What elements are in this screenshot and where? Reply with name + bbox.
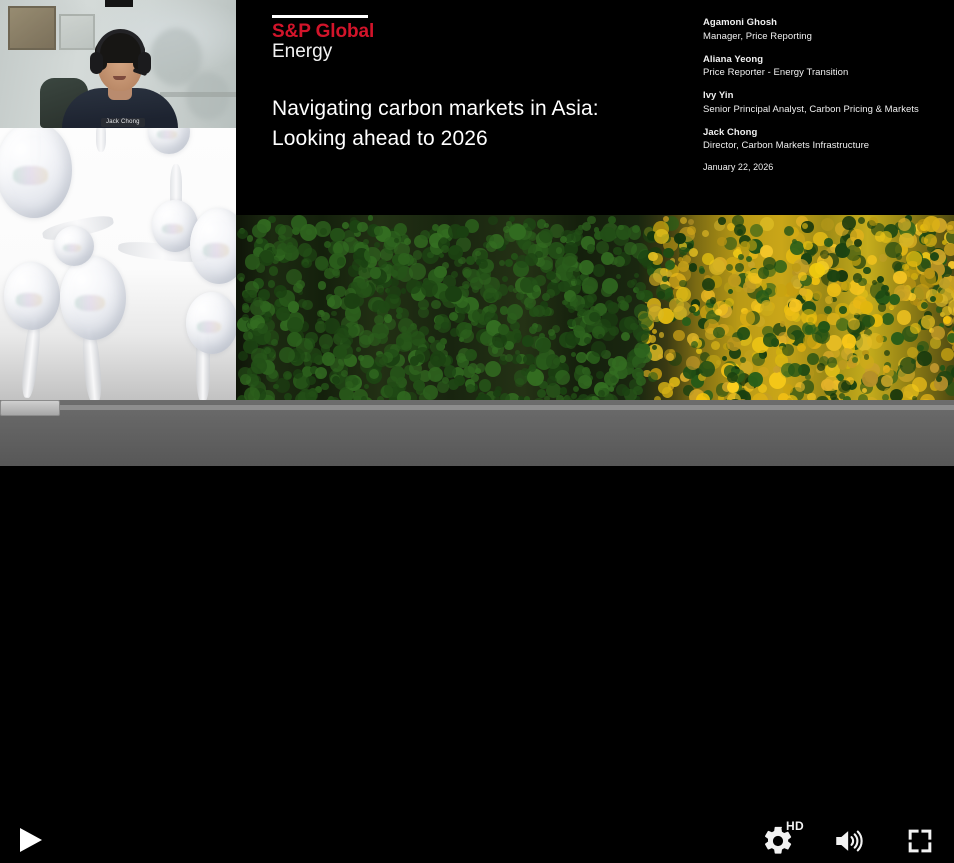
tree-canopy-dot <box>799 288 807 296</box>
tree-canopy-dot <box>536 338 551 353</box>
tree-canopy-dot <box>268 369 278 379</box>
tree-canopy-dot <box>947 333 954 343</box>
background-picture-frame-2 <box>59 14 95 50</box>
forest-canopy <box>236 215 954 400</box>
tree-canopy-dot <box>862 371 878 387</box>
tree-canopy-dot <box>608 216 616 224</box>
tree-canopy-dot <box>682 317 691 326</box>
headphone-earcup-left <box>90 52 103 74</box>
tree-canopy-dot <box>897 310 912 325</box>
tree-canopy-dot <box>368 215 373 220</box>
tree-canopy-dot <box>827 357 837 367</box>
tree-canopy-dot <box>516 292 524 300</box>
tree-canopy-dot <box>713 327 725 339</box>
tree-canopy-dot <box>587 293 597 303</box>
tree-canopy-dot <box>533 285 541 293</box>
tree-canopy-dot <box>596 371 604 379</box>
tree-canopy-dot <box>727 337 741 351</box>
tree-canopy-dot <box>252 224 266 238</box>
tree-canopy-dot <box>341 370 348 377</box>
tree-canopy-dot <box>930 363 940 373</box>
tree-canopy-dot <box>943 316 951 324</box>
tree-canopy-dot <box>740 357 746 363</box>
background-picture-frame <box>8 6 56 50</box>
tree-canopy-dot <box>699 361 715 377</box>
tree-canopy-dot <box>284 393 293 401</box>
tree-canopy-dot <box>715 309 722 316</box>
tree-canopy-dot <box>663 248 674 259</box>
tree-canopy-dot <box>625 295 633 303</box>
glass-sphere <box>60 256 126 340</box>
tree-canopy-dot <box>269 266 279 276</box>
tree-canopy-dot <box>711 341 720 350</box>
tree-canopy-dot <box>505 259 514 268</box>
tree-canopy-dot <box>802 223 808 229</box>
tree-canopy-dot <box>500 393 510 400</box>
tree-canopy-dot <box>898 218 911 231</box>
webcam-feed[interactable]: Jack Chong <box>0 0 236 128</box>
speaker-entry: Ivy YinSenior Principal Analyst, Carbon … <box>703 89 943 117</box>
tree-canopy-dot <box>344 293 360 309</box>
tree-canopy-dot <box>809 263 824 278</box>
tree-canopy-dot <box>621 332 630 341</box>
headphones-band-icon <box>96 29 145 55</box>
tree-canopy-dot <box>852 357 858 363</box>
tree-canopy-dot <box>659 332 664 337</box>
tree-canopy-dot <box>444 365 457 378</box>
tree-canopy-dot <box>702 278 715 291</box>
tree-canopy-dot <box>398 253 410 265</box>
left-column: Jack Chong <box>0 0 236 400</box>
video-player[interactable]: Jack Chong S&P Global Energy Naviga <box>0 0 954 466</box>
tree-canopy-dot <box>575 228 583 236</box>
tree-canopy-dot <box>328 295 342 309</box>
tree-canopy-dot <box>454 375 465 386</box>
tree-canopy-dot <box>419 392 431 400</box>
tree-canopy-dot <box>591 341 606 356</box>
tree-canopy-dot <box>411 331 425 345</box>
tree-canopy-dot <box>378 288 385 295</box>
tree-canopy-dot <box>413 250 422 259</box>
tree-canopy-dot <box>605 377 613 385</box>
tree-canopy-dot <box>357 222 368 233</box>
speaker-name: Jack Chong <box>703 126 943 140</box>
tree-canopy-dot <box>673 330 685 342</box>
tree-canopy-dot <box>292 227 301 236</box>
progress-bar[interactable] <box>0 405 954 410</box>
glass-sphere <box>54 226 94 266</box>
tree-canopy-dot <box>613 247 622 256</box>
tree-canopy-dot <box>734 224 747 237</box>
tree-canopy-dot <box>359 330 374 345</box>
progress-bar-handle[interactable] <box>0 400 60 416</box>
speaker-role: Senior Principal Analyst, Carbon Pricing… <box>703 103 943 117</box>
tree-canopy-dot <box>488 216 497 225</box>
tree-canopy-dot <box>370 267 382 279</box>
tree-canopy-dot <box>825 296 833 304</box>
tree-canopy-dot <box>401 288 407 294</box>
tree-canopy-dot <box>237 229 248 240</box>
glass-sphere <box>190 208 236 284</box>
tree-canopy-dot <box>827 270 840 283</box>
tree-canopy-dot <box>476 363 486 373</box>
tree-canopy-dot <box>885 242 902 259</box>
tree-canopy-dot <box>432 224 439 231</box>
tree-canopy-dot <box>546 289 555 298</box>
tree-canopy-dot <box>775 284 788 297</box>
tree-canopy-dot <box>434 266 447 279</box>
tree-canopy-dot <box>748 372 763 387</box>
tree-canopy-dot <box>317 310 324 317</box>
tree-canopy-dot <box>479 379 491 391</box>
person-mouth <box>113 76 126 80</box>
forest-aerial-photo <box>236 215 954 400</box>
tree-canopy-dot <box>332 376 340 384</box>
tree-canopy-dot <box>806 314 817 325</box>
tree-canopy-dot <box>271 339 278 346</box>
sp-global-division-text: Energy <box>272 41 332 63</box>
tree-canopy-dot <box>616 274 621 279</box>
tree-canopy-dot <box>529 326 537 334</box>
tree-canopy-dot <box>782 344 795 357</box>
tree-canopy-dot <box>486 241 497 252</box>
tree-canopy-dot <box>930 252 939 261</box>
tree-canopy-dot <box>247 235 254 242</box>
tree-canopy-dot <box>931 326 945 340</box>
speaker-name: Ivy Yin <box>703 89 943 103</box>
tree-canopy-dot <box>544 223 549 228</box>
tree-canopy-dot <box>699 268 705 274</box>
tree-canopy-dot <box>821 218 834 231</box>
tree-canopy-dot <box>459 337 464 342</box>
tree-canopy-dot <box>689 306 696 313</box>
gear-icon <box>761 824 795 858</box>
tree-canopy-dot <box>445 286 461 302</box>
tree-canopy-dot <box>296 280 306 290</box>
tree-canopy-dot <box>878 303 886 311</box>
tree-canopy-dot <box>251 375 261 385</box>
tree-canopy-dot <box>737 327 750 340</box>
tree-canopy-dot <box>364 384 369 389</box>
volume-icon <box>832 824 866 858</box>
slide-title-line-1: Navigating carbon markets in Asia: <box>272 94 672 124</box>
tree-canopy-dot <box>687 226 696 235</box>
tree-canopy-dot <box>790 241 804 255</box>
tree-canopy-dot <box>910 323 921 334</box>
tree-canopy-dot <box>582 279 597 294</box>
tree-canopy-dot <box>546 271 556 281</box>
tree-canopy-dot <box>352 378 359 385</box>
top-notch <box>105 0 133 7</box>
tree-canopy-dot <box>374 226 384 236</box>
tree-canopy-dot <box>618 225 623 230</box>
tree-canopy-dot <box>320 228 327 235</box>
tree-canopy-dot <box>303 262 308 267</box>
tree-canopy-dot <box>442 377 449 384</box>
settings-button[interactable] <box>761 824 795 858</box>
tree-canopy-dot <box>480 284 495 299</box>
tree-canopy-dot <box>689 248 698 257</box>
tree-canopy-dot <box>527 369 544 386</box>
tree-canopy-dot <box>841 281 852 292</box>
tree-canopy-dot <box>815 329 830 344</box>
tree-canopy-dot <box>817 363 825 371</box>
tree-canopy-dot <box>648 372 658 382</box>
tree-canopy-dot <box>397 391 411 400</box>
speaker-entry: Jack ChongDirector, Carbon Markets Infra… <box>703 126 943 154</box>
tree-canopy-dot <box>281 237 297 253</box>
tree-canopy-dot <box>940 365 946 371</box>
tree-canopy-dot <box>463 366 475 378</box>
tree-canopy-dot <box>906 251 923 268</box>
tree-canopy-dot <box>318 281 327 290</box>
tree-canopy-dot <box>842 216 857 231</box>
tree-canopy-dot <box>899 233 914 248</box>
tree-canopy-dot <box>378 301 390 313</box>
tree-canopy-dot <box>568 306 575 313</box>
tree-canopy-dot <box>842 334 857 349</box>
tree-canopy-dot <box>369 369 379 379</box>
tree-canopy-dot <box>923 216 940 233</box>
tree-canopy-dot <box>364 247 380 263</box>
tree-canopy-dot <box>936 376 942 382</box>
tree-canopy-dot <box>448 245 463 260</box>
tree-canopy-dot <box>472 286 479 293</box>
tree-canopy-dot <box>413 380 425 392</box>
tree-canopy-dot <box>324 318 340 334</box>
tree-canopy-dot <box>492 333 507 348</box>
tree-canopy-dot <box>410 356 420 366</box>
tree-canopy-dot <box>657 291 665 299</box>
tree-canopy-dot <box>409 263 426 280</box>
tree-canopy-dot <box>658 354 664 360</box>
tree-canopy-dot <box>601 312 618 329</box>
tree-canopy-dot <box>456 353 466 363</box>
tree-canopy-dot <box>889 294 900 305</box>
speaker-list: Agamoni GhoshManager, Price ReportingAli… <box>703 16 943 172</box>
tree-canopy-dot <box>584 337 591 344</box>
background-shelf <box>160 92 236 97</box>
participant-name-label: Jack Chong <box>101 118 145 127</box>
tree-canopy-dot <box>253 297 263 307</box>
tree-canopy-dot <box>387 286 401 300</box>
speaker-role: Director, Carbon Markets Infrastructure <box>703 139 943 153</box>
tree-canopy-dot <box>738 254 744 260</box>
tree-canopy-dot <box>264 347 271 354</box>
tree-canopy-dot <box>342 222 349 229</box>
tree-canopy-dot <box>288 301 300 313</box>
tree-canopy-dot <box>780 321 786 327</box>
tree-canopy-dot <box>600 227 615 242</box>
tree-canopy-dot <box>509 224 525 240</box>
tree-canopy-dot <box>331 311 336 316</box>
presentation-slide[interactable]: S&P Global Energy Navigating carbon mark… <box>236 0 954 400</box>
tree-canopy-dot <box>279 347 295 363</box>
tree-canopy-dot <box>579 260 594 275</box>
tree-canopy-dot <box>750 224 763 237</box>
tree-canopy-dot <box>244 387 260 400</box>
tree-canopy-dot <box>760 302 774 316</box>
tree-canopy-dot <box>867 255 877 265</box>
tree-canopy-dot <box>811 277 820 286</box>
tree-canopy-dot <box>363 239 370 246</box>
tree-canopy-dot <box>605 300 614 309</box>
tree-canopy-dot <box>485 361 501 377</box>
tree-canopy-dot <box>807 353 819 365</box>
tree-canopy-dot <box>752 353 765 366</box>
tree-canopy-dot <box>302 300 312 310</box>
tree-canopy-dot <box>345 381 353 389</box>
tree-canopy-dot <box>858 278 867 287</box>
tree-canopy-dot <box>324 241 331 248</box>
tree-canopy-dot <box>807 393 815 400</box>
fullscreen-icon <box>903 824 937 858</box>
tree-canopy-dot <box>921 302 928 309</box>
tree-canopy-dot <box>428 367 443 382</box>
tree-canopy-dot <box>763 333 777 347</box>
fullscreen-button[interactable] <box>903 824 937 858</box>
tree-canopy-dot <box>763 257 776 270</box>
tree-canopy-dot <box>495 386 502 393</box>
tree-canopy-dot <box>315 367 327 379</box>
tree-canopy-dot <box>824 238 833 247</box>
tree-canopy-dot <box>514 333 522 341</box>
tree-canopy-dot <box>870 282 887 299</box>
tree-canopy-dot <box>251 358 267 374</box>
glass-sphere <box>4 262 60 330</box>
tree-canopy-dot <box>882 313 895 326</box>
tree-canopy-dot <box>306 376 316 386</box>
speaker-name: Agamoni Ghosh <box>703 16 943 30</box>
tree-canopy-dot <box>609 386 615 392</box>
tree-canopy-dot <box>242 305 250 313</box>
tree-canopy-dot <box>617 296 625 304</box>
glass-sphere <box>186 292 236 354</box>
tree-canopy-dot <box>356 347 361 352</box>
tree-canopy-dot <box>566 267 580 281</box>
tree-canopy-dot <box>287 317 303 333</box>
tree-canopy-dot <box>555 370 571 386</box>
tree-canopy-dot <box>890 389 904 401</box>
tree-canopy-dot <box>505 354 513 362</box>
tree-canopy-dot <box>573 386 579 392</box>
tree-canopy-dot <box>838 360 847 369</box>
tree-canopy-dot <box>666 353 674 361</box>
speaker-entry: Agamoni GhoshManager, Price Reporting <box>703 16 943 44</box>
volume-button[interactable] <box>832 824 866 858</box>
tree-canopy-dot <box>846 245 862 261</box>
tree-canopy-dot <box>948 299 954 316</box>
tree-canopy-dot <box>728 289 734 295</box>
tree-canopy-dot <box>268 280 276 288</box>
tree-canopy-dot <box>821 379 834 392</box>
tree-canopy-dot <box>863 267 871 275</box>
glass-stem <box>96 128 106 152</box>
tree-canopy-dot <box>930 296 936 302</box>
tree-canopy-dot <box>813 291 822 300</box>
tree-canopy-dot <box>702 253 714 265</box>
tree-canopy-dot <box>360 355 374 369</box>
tree-canopy-dot <box>375 354 388 367</box>
tree-canopy-dot <box>322 352 336 366</box>
tree-canopy-dot <box>652 329 658 335</box>
tree-canopy-dot <box>259 250 274 265</box>
tree-canopy-dot <box>702 230 709 237</box>
tree-canopy-dot <box>601 285 613 297</box>
tree-canopy-dot <box>593 264 606 277</box>
tree-canopy-dot <box>858 217 865 224</box>
tree-canopy-dot <box>669 298 684 313</box>
tree-canopy-dot <box>718 217 726 225</box>
speaker-entry: Aliana YeongPrice Reporter - Energy Tran… <box>703 53 943 81</box>
player-control-bar[interactable]: HD <box>0 400 954 466</box>
tree-canopy-dot <box>722 356 727 361</box>
play-button[interactable] <box>16 824 48 856</box>
tree-canopy-dot <box>740 310 756 326</box>
glass-sphere <box>148 128 190 154</box>
tree-canopy-dot <box>860 301 873 314</box>
slide-title: Navigating carbon markets in Asia: Looki… <box>272 94 672 154</box>
tree-canopy-dot <box>881 375 893 387</box>
tree-canopy-dot <box>869 217 878 226</box>
speaker-role: Manager, Price Reporting <box>703 30 943 44</box>
tree-canopy-dot <box>372 323 389 340</box>
tree-canopy-dot <box>406 279 421 294</box>
tree-canopy-dot <box>725 298 734 307</box>
tree-canopy-dot <box>507 304 523 320</box>
sp-global-logo-text: S&P Global <box>272 21 374 43</box>
tree-canopy-dot <box>492 347 499 354</box>
tree-canopy-dot <box>465 349 477 361</box>
logo-rule <box>272 15 368 18</box>
tree-canopy-dot <box>862 388 867 393</box>
tree-canopy-dot <box>523 354 535 366</box>
tree-canopy-dot <box>560 387 568 395</box>
tree-canopy-dot <box>632 355 646 369</box>
tree-canopy-dot <box>440 237 447 244</box>
tree-canopy-dot <box>917 351 932 366</box>
tree-canopy-dot <box>539 256 553 270</box>
tree-canopy-dot <box>688 219 694 225</box>
speaker-role: Price Reporter - Energy Transition <box>703 66 943 80</box>
tree-canopy-dot <box>942 240 947 245</box>
tree-canopy-dot <box>649 335 657 343</box>
tree-canopy-dot <box>862 315 875 328</box>
tree-canopy-dot <box>838 380 851 393</box>
tree-canopy-dot <box>431 300 440 309</box>
tree-canopy-dot <box>439 253 444 258</box>
tree-canopy-dot <box>577 354 585 362</box>
slide-title-line-2: Looking ahead to 2026 <box>272 124 672 154</box>
tree-canopy-dot <box>788 363 802 377</box>
tree-canopy-dot <box>539 229 553 243</box>
tree-canopy-dot <box>680 217 687 224</box>
tree-canopy-dot <box>502 276 508 282</box>
tree-canopy-dot <box>884 350 890 356</box>
tree-canopy-dot <box>735 263 744 272</box>
tree-canopy-dot <box>633 386 643 396</box>
tree-canopy-dot <box>946 221 954 234</box>
webinar-date: January 22, 2026 <box>703 162 943 172</box>
tree-canopy-dot <box>789 299 802 312</box>
glass-sphere <box>0 128 72 218</box>
tree-canopy-dot <box>740 241 750 251</box>
tree-canopy-dot <box>421 280 438 297</box>
tree-canopy-dot <box>820 250 829 259</box>
tree-canopy-dot <box>891 332 904 345</box>
sculpture-video-panel[interactable] <box>0 128 236 400</box>
tree-canopy-dot <box>522 335 534 347</box>
